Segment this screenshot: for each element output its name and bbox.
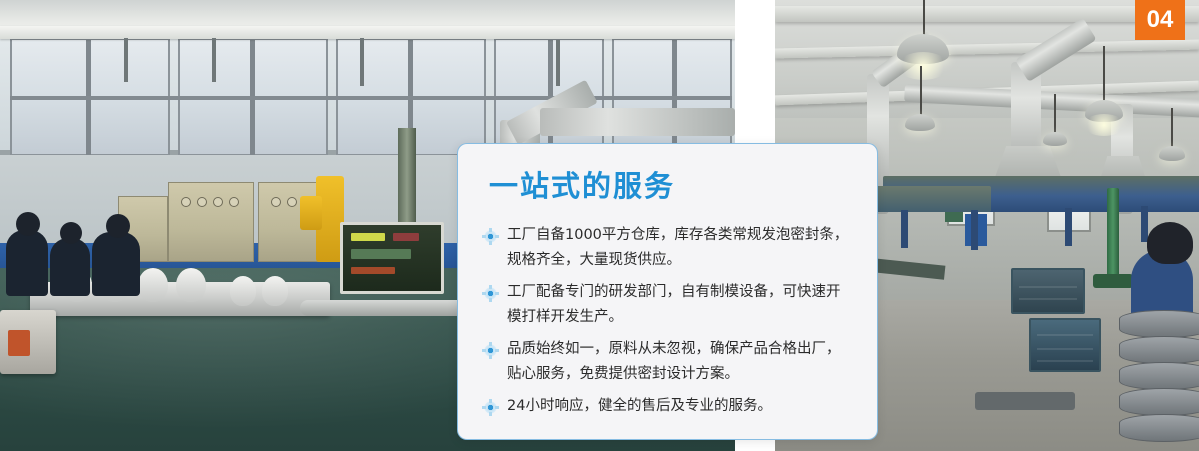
roof-bracket — [556, 40, 560, 86]
machine-display-panel — [340, 222, 444, 294]
extruder-roller — [138, 268, 168, 302]
list-item: 工厂配备专门的研发部门，自有制模设备，可快速开模打样开发生产。 — [484, 280, 853, 330]
list-item: 24小时响应，健全的售后及专业的服务。 — [484, 394, 853, 419]
green-support-post — [1107, 188, 1119, 278]
bullet-dot-icon — [484, 401, 497, 414]
panel-led — [351, 233, 385, 241]
banner-stage: 04 一站式的服务 工厂自备1000平方仓库，库存各类常规发泡密封条，规格齐全，… — [0, 0, 1199, 451]
lamp-cord — [1171, 108, 1173, 148]
panel-led — [351, 249, 411, 259]
storage-crate — [1029, 318, 1101, 372]
material-coil — [1119, 388, 1199, 416]
storage-crate — [1011, 268, 1085, 314]
worker-head — [60, 222, 82, 244]
list-item-text: 工厂自备1000平方仓库，库存各类常规发泡密封条，规格齐全，大量现货供应。 — [507, 227, 848, 268]
roof-bracket — [124, 38, 128, 82]
exhaust-duct — [540, 108, 735, 136]
conveyor-leg — [1065, 208, 1072, 246]
cabinet-knob — [181, 197, 191, 207]
yellow-machine — [300, 196, 322, 230]
roof-bracket — [360, 38, 364, 86]
material-coil — [1119, 414, 1199, 442]
bullet-dot-icon — [484, 344, 497, 357]
crate-slat — [1037, 360, 1093, 362]
list-item-text: 24小时响应，健全的售后及专业的服务。 — [507, 398, 772, 414]
material-coil — [1119, 336, 1199, 364]
worker-head — [106, 214, 130, 238]
list-item: 工厂自备1000平方仓库，库存各类常规发泡密封条，规格齐全，大量现货供应。 — [484, 223, 853, 273]
crate-slat — [1019, 298, 1077, 300]
service-bullet-list: 工厂自备1000平方仓库，库存各类常规发泡密封条，规格齐全，大量现货供应。 工厂… — [458, 223, 877, 419]
pendant-lamp — [905, 114, 935, 131]
window-mullion — [86, 40, 91, 165]
lamp-cord — [923, 0, 925, 36]
panel-led — [393, 233, 419, 241]
orange-part — [8, 330, 30, 356]
roof-bracket — [212, 38, 216, 82]
cabinet-knob — [213, 197, 223, 207]
card-title: 一站式的服务 — [489, 172, 877, 201]
pendant-lamp — [1043, 132, 1067, 146]
list-item-text: 工厂配备专门的研发部门，自有制模设备，可快速开模打样开发生产。 — [507, 284, 841, 325]
panel-led — [351, 267, 395, 274]
worker-head — [16, 212, 40, 236]
window-mullion — [250, 40, 255, 165]
extruder-roller — [230, 276, 256, 306]
worker-head — [1147, 222, 1193, 264]
ceiling-beam — [0, 26, 735, 39]
post-base — [1093, 274, 1133, 288]
material-coil — [1119, 362, 1199, 390]
worker-figure — [92, 232, 140, 296]
service-info-card: 一站式的服务 工厂自备1000平方仓库，库存各类常规发泡密封条，规格齐全，大量现… — [457, 143, 878, 440]
conveyor-line — [871, 186, 991, 212]
lamp-glow — [1083, 114, 1125, 136]
list-item: 品质始终如一，原料从未忽视，确保产品合格出厂，贴心服务，免费提供密封设计方案。 — [484, 337, 853, 387]
list-item-text: 品质始终如一，原料从未忽视，确保产品合格出厂，贴心服务，免费提供密封设计方案。 — [507, 341, 841, 382]
control-cabinet — [168, 182, 254, 262]
crate-slat — [1019, 286, 1077, 288]
lamp-cord — [1103, 46, 1105, 102]
cabinet-knob — [229, 197, 239, 207]
badge-number: 04 — [1147, 8, 1174, 32]
window-transom — [10, 96, 732, 100]
extruder-roller — [262, 276, 288, 306]
worker-figure — [6, 230, 48, 296]
lamp-cord — [1054, 94, 1056, 134]
step-number-badge: 04 — [1135, 0, 1185, 40]
extruder-roller — [176, 268, 206, 302]
bullet-dot-icon — [484, 230, 497, 243]
conveyor-leg — [901, 210, 908, 248]
cabinet-knob — [287, 197, 297, 207]
material-coil — [1119, 310, 1199, 338]
conveyor-leg — [971, 210, 978, 250]
bullet-dot-icon — [484, 287, 497, 300]
machine-part — [975, 392, 1075, 410]
cabinet-knob — [271, 197, 281, 207]
lamp-glow — [897, 52, 949, 80]
crate-slat — [1037, 348, 1093, 350]
worker-figure — [50, 238, 90, 296]
pendant-lamp — [1159, 146, 1185, 161]
cabinet-knob — [197, 197, 207, 207]
lamp-cord — [920, 66, 922, 116]
crate-slat — [1037, 334, 1093, 336]
